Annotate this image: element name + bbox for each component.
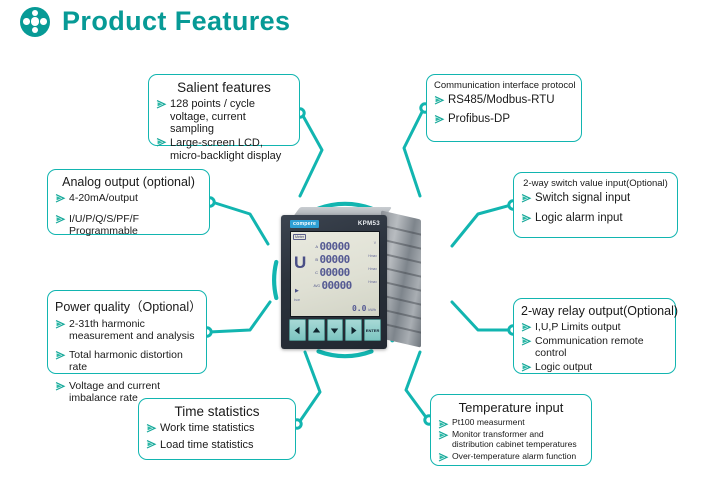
feature-box-communication-interface-protocol: Communication interface protocol RS485/M…	[426, 74, 582, 142]
device-key-right[interactable]	[345, 319, 362, 341]
lcd-total-unit: kWh	[368, 307, 376, 313]
lcd-row: A 00000	[312, 240, 376, 253]
list-item: Load time statistics	[146, 439, 288, 452]
list-item: Monitor transformer and distribution cab…	[438, 430, 584, 450]
device-key-up[interactable]	[308, 319, 325, 341]
lcd-row: AVG 00000	[312, 279, 376, 292]
list-item: Communication remote control	[521, 335, 668, 359]
feature-box-temperature-input: Temperature input Pt100 measurment Monit…	[430, 394, 592, 466]
feature-box-switch-value-input: 2-way switch value input(Optional) Switc…	[513, 172, 678, 238]
device-side-heatsink	[381, 210, 421, 347]
list-item-label: Monitor transformer and distribution cab…	[452, 429, 577, 449]
arrow-bullet-icon	[521, 193, 532, 204]
power-meter-device-image: compere KPM53 Meter U A 00000 B 00000 C	[277, 207, 413, 354]
list-item: Large-screen LCD, micro-backlight displa…	[156, 137, 292, 162]
lcd-row-phase: C	[312, 270, 320, 275]
lcd-row-digits: 00000	[320, 241, 350, 252]
list-item: Profibus-DP	[434, 113, 574, 126]
feature-list: 4-20mA/output I/U/P/Q/S/PF/F Programmabl…	[55, 192, 202, 237]
arrow-bullet-icon	[146, 423, 157, 434]
lcd-unit-row1: V	[374, 241, 376, 245]
arrow-bullet-icon	[156, 137, 167, 148]
device-key-left[interactable]	[289, 319, 306, 341]
feature-box-title: Temperature input	[438, 400, 584, 415]
list-item-label: I,U,P Limits output	[535, 321, 621, 333]
lcd-reading-rows: A 00000 B 00000 C 00000 AVG 00000	[312, 240, 376, 292]
spoke-salient	[300, 114, 322, 196]
lcd-sub-label: kvar	[294, 298, 300, 302]
list-item-label: Work time statistics	[160, 422, 255, 434]
lcd-quantity-symbol: U	[294, 254, 306, 271]
device-model-label: KPM53	[358, 220, 380, 227]
list-item-label: I/U/P/Q/S/PF/F Programmable	[69, 213, 139, 237]
arrow-bullet-icon	[55, 214, 66, 225]
list-item: 4-20mA/output	[55, 192, 202, 204]
device-key-down[interactable]	[327, 319, 344, 341]
lcd-row: B 00000	[312, 253, 376, 266]
feature-box-title: 2-way relay output(Optional)	[521, 304, 668, 318]
arrow-bullet-icon	[521, 213, 532, 224]
lcd-unit-row2: Hmax	[368, 254, 377, 258]
arrow-bullet-icon	[55, 381, 66, 392]
lcd-unit-row3: Hmax	[368, 267, 377, 271]
list-item-label: Profibus-DP	[448, 113, 510, 125]
feature-list: 2-31th harmonic measurement and analysis…	[55, 318, 199, 404]
feature-box-analog-output: Analog output (optional) 4-20mA/output I…	[47, 169, 210, 235]
lcd-row-digits: 00000	[320, 254, 350, 265]
list-item: Logic output	[521, 361, 668, 373]
feature-box-title: Communication interface protocol	[434, 80, 574, 91]
list-item: Pt100 measurment	[438, 418, 584, 428]
spoke-time	[298, 352, 320, 424]
device-front-panel: compere KPM53 Meter U A 00000 B 00000 C	[281, 215, 387, 349]
list-item-label: Total harmonic distortion rate	[69, 349, 183, 373]
arrow-bullet-icon	[521, 336, 532, 347]
spoke-analog	[212, 202, 268, 244]
product-features-infographic: Product Features	[0, 0, 724, 480]
spoke-switch	[452, 205, 511, 246]
feature-box-title: Analog output (optional)	[55, 175, 202, 189]
arrow-bullet-icon	[438, 452, 449, 463]
arrow-bullet-icon	[438, 430, 449, 441]
list-item-label: Load time statistics	[160, 439, 254, 451]
arrow-bullet-icon	[146, 439, 157, 450]
lcd-row-phase: B	[312, 257, 320, 262]
device-keypad: ENTER	[289, 319, 381, 341]
list-item-label: Switch signal input	[535, 192, 630, 204]
feature-box-relay-output: 2-way relay output(Optional) I,U,P Limit…	[513, 298, 676, 374]
feature-list: Work time statistics Load time statistic…	[146, 422, 288, 451]
feature-box-title: Salient features	[156, 80, 292, 95]
list-item: 128 points / cycle voltage, current samp…	[156, 98, 292, 136]
feature-list: Pt100 measurment Monitor transformer and…	[438, 418, 584, 462]
spoke-temperature	[406, 352, 428, 420]
list-item: I/U/P/Q/S/PF/F Programmable	[55, 213, 202, 237]
lcd-mode-tag: Meter	[293, 234, 306, 240]
list-item-label: RS485/Modbus-RTU	[448, 94, 555, 106]
feature-list: 128 points / cycle voltage, current samp…	[156, 98, 292, 162]
feature-box-time-statistics: Time statistics Work time statistics Loa…	[138, 398, 296, 460]
arrow-bullet-icon	[434, 114, 445, 125]
list-item: Over-temperature alarm function	[438, 452, 584, 462]
feature-box-title: Power quality（Optional）	[55, 296, 199, 315]
list-item-label: Over-temperature alarm function	[452, 451, 576, 461]
lcd-unit-row4: Hmax	[368, 280, 377, 284]
spoke-power-quality	[209, 302, 270, 332]
lcd-row-phase: AVG	[312, 284, 322, 288]
list-item-label: 128 points / cycle voltage, current samp…	[170, 98, 255, 135]
feature-box-title: 2-way switch value input(Optional)	[521, 178, 670, 189]
list-item-label: Large-screen LCD, micro-backlight displa…	[170, 137, 281, 162]
lcd-total-reading: 0.0 kWh	[352, 305, 376, 313]
arrow-bullet-icon	[156, 99, 167, 110]
lcd-row-digits: 00000	[322, 280, 352, 291]
device-lcd-display: Meter U A 00000 B 00000 C 00000	[290, 231, 380, 317]
feature-box-power-quality: Power quality（Optional） 2-31th harmonic …	[47, 290, 207, 374]
lcd-row-digits: 00000	[320, 267, 350, 278]
feature-box-title: Time statistics	[146, 404, 288, 419]
lcd-row: C 00000	[312, 266, 376, 279]
device-key-enter-label: ENTER	[366, 328, 380, 333]
feature-box-salient-features: Salient features 128 points / cycle volt…	[148, 74, 300, 146]
feature-list: I,U,P Limits output Communication remote…	[521, 321, 668, 373]
arrow-bullet-icon	[55, 319, 66, 330]
list-item-label: 2-31th harmonic measurement and analysis	[69, 318, 194, 342]
lcd-signal-icon: ▶	[295, 288, 299, 294]
arrow-bullet-icon	[521, 362, 532, 373]
arrow-bullet-icon	[438, 419, 449, 430]
list-item: Total harmonic distortion rate	[55, 349, 199, 373]
list-item: Work time statistics	[146, 422, 288, 435]
list-item: Logic alarm input	[521, 212, 670, 225]
device-key-enter[interactable]: ENTER	[364, 319, 381, 341]
lcd-row-phase: A	[312, 244, 320, 249]
arrow-bullet-icon	[521, 322, 532, 333]
lcd-total-value: 0.0	[352, 305, 366, 313]
device-brand-logo: compere	[290, 220, 319, 228]
list-item-label: Logic output	[535, 361, 592, 373]
list-item: 2-31th harmonic measurement and analysis	[55, 318, 199, 342]
list-item: I,U,P Limits output	[521, 321, 668, 333]
list-item-label: Pt100 measurment	[452, 417, 525, 427]
list-item-label: 4-20mA/output	[69, 192, 138, 204]
list-item-label: Communication remote control	[535, 335, 644, 359]
arrow-bullet-icon	[434, 95, 445, 106]
arrow-bullet-icon	[55, 193, 66, 204]
spoke-relay	[452, 302, 511, 330]
feature-list: RS485/Modbus-RTU Profibus-DP	[434, 94, 574, 126]
list-item: Switch signal input	[521, 192, 670, 205]
list-item-label: Logic alarm input	[535, 212, 623, 224]
spoke-communication	[404, 108, 424, 196]
list-item: RS485/Modbus-RTU	[434, 94, 574, 107]
arrow-bullet-icon	[55, 350, 66, 361]
ring-arc-w	[274, 262, 276, 298]
feature-list: Switch signal input Logic alarm input	[521, 192, 670, 225]
